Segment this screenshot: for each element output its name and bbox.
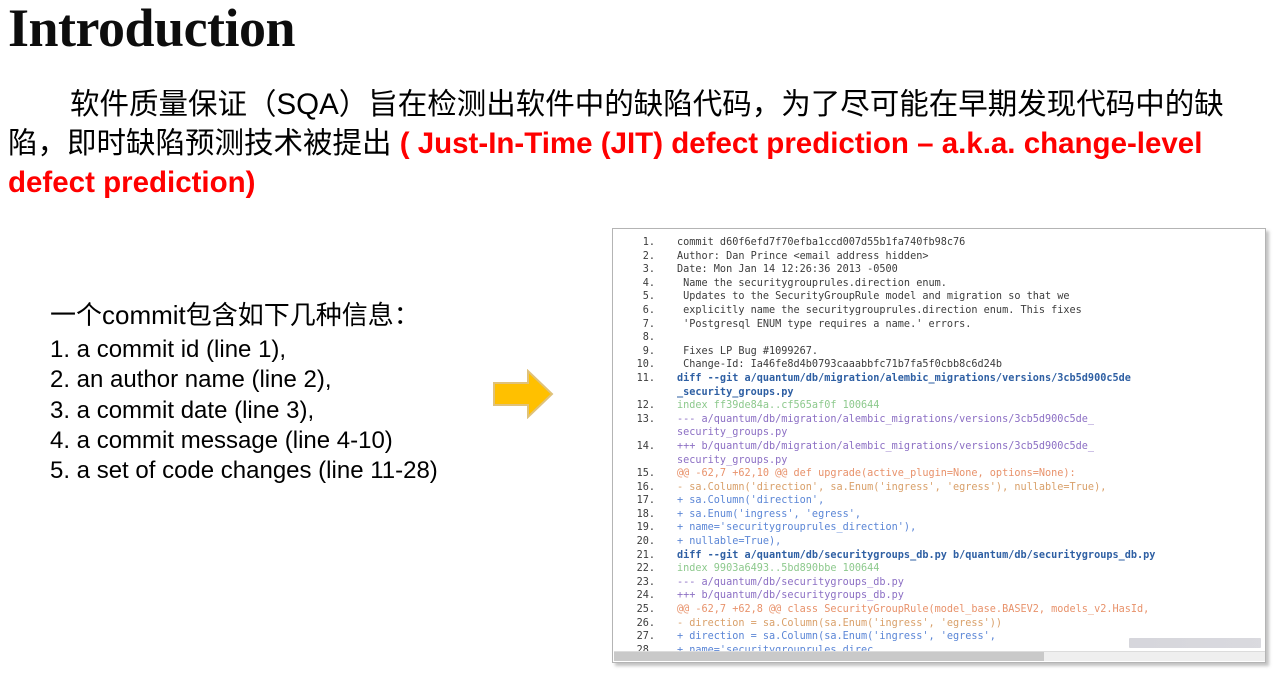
code-line: 5. Updates to the SecurityGroupRule mode… — [613, 290, 1265, 304]
code-line-text: index 9903a6493..5bd890bbe 100644 — [677, 563, 879, 574]
code-line: 23.--- a/quantum/db/securitygroups_db.py — [613, 576, 1265, 590]
code-line-number: 17. — [613, 494, 655, 508]
code-line: 25.@@ -62,7 +62,8 @@ class SecurityGroup… — [613, 603, 1265, 617]
code-line-text: diff --git a/quantum/db/migration/alembi… — [677, 373, 1131, 384]
code-line-number: 19. — [613, 521, 655, 535]
list-item: 1. a commit id (line 1), — [50, 335, 480, 365]
code-line-text: @@ -62,7 +62,8 @@ class SecurityGroupRul… — [677, 604, 1149, 615]
code-line-number: 13. — [613, 413, 655, 427]
code-line-text: --- a/quantum/db/securitygroups_db.py — [677, 577, 904, 588]
code-line: 1.commit d60f6efd7f70efba1ccd007d55b1fa7… — [613, 236, 1265, 250]
code-line-text: - direction = sa.Column(sa.Enum('ingress… — [677, 618, 1002, 629]
code-line-text: @@ -62,7 +62,10 @@ def upgrade(active_pl… — [677, 468, 1076, 479]
code-line-number: 24. — [613, 589, 655, 603]
intro-paragraph: 软件质量保证（SQA）旨在检测出软件中的缺陷代码，为了尽可能在早期发现代码中的缺… — [8, 86, 1253, 203]
code-line: 13.--- a/quantum/db/migration/alembic_mi… — [613, 413, 1265, 427]
code-line: 24.+++ b/quantum/db/securitygroups_db.py — [613, 589, 1265, 603]
code-line-text: commit d60f6efd7f70efba1ccd007d55b1fa740… — [677, 237, 965, 248]
code-line-text: index ff39de84a..cf565af0f 100644 — [677, 400, 879, 411]
code-line-text: + sa.Enum('ingress', 'egress', — [677, 509, 861, 520]
commit-info-heading: 一个commit包含如下几种信息： — [50, 300, 480, 331]
code-line: 14.+++ b/quantum/db/migration/alembic_mi… — [613, 440, 1265, 454]
code-line-text: Author: Dan Prince <email address hidden… — [677, 251, 928, 262]
code-line-number: 4. — [613, 277, 655, 291]
code-line-text: Name the securitygrouprules.direction en… — [677, 278, 947, 289]
commit-code-panel: 1.commit d60f6efd7f70efba1ccd007d55b1fa7… — [612, 228, 1266, 663]
code-line-text: 'Postgresql ENUM type requires a name.' … — [677, 319, 971, 330]
code-line-number: 22. — [613, 562, 655, 576]
code-line-number: 10. — [613, 358, 655, 372]
code-line: _security_groups.py — [613, 386, 1265, 400]
code-line: security_groups.py — [613, 426, 1265, 440]
code-line-text: security_groups.py — [677, 427, 787, 438]
code-line-number: 25. — [613, 603, 655, 617]
code-line-text: + name='securitygrouprules_direction'), — [677, 522, 916, 533]
code-line: 9. Fixes LP Bug #1099267. — [613, 345, 1265, 359]
code-line-number: 21. — [613, 549, 655, 563]
code-line-text: +++ b/quantum/db/migration/alembic_migra… — [677, 441, 1094, 452]
code-line-number: 18. — [613, 508, 655, 522]
code-line-number: 12. — [613, 399, 655, 413]
code-line-list: 1.commit d60f6efd7f70efba1ccd007d55b1fa7… — [613, 236, 1265, 657]
code-line: 7. 'Postgresql ENUM type requires a name… — [613, 318, 1265, 332]
code-line-number: 14. — [613, 440, 655, 454]
code-line-number: 20. — [613, 535, 655, 549]
code-line-text: Fixes LP Bug #1099267. — [677, 346, 818, 357]
code-line-text: diff --git a/quantum/db/securitygroups_d… — [677, 550, 1155, 561]
list-item: 3. a commit date (line 3), — [50, 396, 480, 426]
code-line: 21.diff --git a/quantum/db/securitygroup… — [613, 549, 1265, 563]
code-line: security_groups.py — [613, 454, 1265, 468]
code-line-text: + nullable=True), — [677, 536, 781, 547]
code-line-number: 7. — [613, 318, 655, 332]
code-line: 26.- direction = sa.Column(sa.Enum('ingr… — [613, 617, 1265, 631]
code-line-text: Change-Id: Ia46fe8d4b0793caaabbfc71b7fa5… — [677, 359, 1002, 370]
code-line-text: Date: Mon Jan 14 12:26:36 2013 -0500 — [677, 264, 898, 275]
code-line: 19.+ name='securitygrouprules_direction'… — [613, 521, 1265, 535]
code-line: 3.Date: Mon Jan 14 12:26:36 2013 -0500 — [613, 263, 1265, 277]
scroll-handle-overlay[interactable] — [1129, 638, 1261, 648]
scrollbar-thumb[interactable] — [614, 652, 1044, 661]
code-line-text: +++ b/quantum/db/securitygroups_db.py — [677, 590, 904, 601]
code-line-number: 1. — [613, 236, 655, 250]
code-line-number: 2. — [613, 250, 655, 264]
code-line: 18.+ sa.Enum('ingress', 'egress', — [613, 508, 1265, 522]
code-line: 10. Change-Id: Ia46fe8d4b0793caaabbfc71b… — [613, 358, 1265, 372]
code-line-text: + direction = sa.Column(sa.Enum('ingress… — [677, 631, 996, 642]
code-line-number: 3. — [613, 263, 655, 277]
code-line: 20.+ nullable=True), — [613, 535, 1265, 549]
code-line: 11.diff --git a/quantum/db/migration/ale… — [613, 372, 1265, 386]
code-line-number: 15. — [613, 467, 655, 481]
right-arrow-icon — [492, 369, 554, 419]
code-line-text: security_groups.py — [677, 455, 787, 466]
list-item: 2. an author name (line 2), — [50, 365, 480, 395]
code-line: 17.+ sa.Column('direction', — [613, 494, 1265, 508]
code-line: 22.index 9903a6493..5bd890bbe 100644 — [613, 562, 1265, 576]
list-item: 5. a set of code changes (line 11-28) — [50, 456, 480, 486]
code-line-number: 8. — [613, 331, 655, 345]
code-line-text: Updates to the SecurityGroupRule model a… — [677, 291, 1070, 302]
code-line: 4. Name the securitygrouprules.direction… — [613, 277, 1265, 291]
code-line-number: 16. — [613, 481, 655, 495]
code-line-number: 11. — [613, 372, 655, 386]
code-line: 12.index ff39de84a..cf565af0f 100644 — [613, 399, 1265, 413]
code-line: 6. explicitly name the securitygrouprule… — [613, 304, 1265, 318]
code-line: 8. — [613, 331, 1265, 345]
code-line-number: 23. — [613, 576, 655, 590]
code-line-text: _security_groups.py — [677, 387, 794, 398]
commit-info-block: 一个commit包含如下几种信息： 1. a commit id (line 1… — [50, 300, 480, 486]
code-line: 16.- sa.Column('direction', sa.Enum('ing… — [613, 481, 1265, 495]
code-line-number: 26. — [613, 617, 655, 631]
page-title: Introduction — [8, 0, 295, 58]
list-item: 4. a commit message (line 4-10) — [50, 426, 480, 456]
code-line-number: 5. — [613, 290, 655, 304]
code-line-text: + sa.Column('direction', — [677, 495, 824, 506]
code-line-text: - sa.Column('direction', sa.Enum('ingres… — [677, 482, 1106, 493]
horizontal-scrollbar[interactable] — [614, 651, 1266, 661]
code-line-text: explicitly name the securitygrouprules.d… — [677, 305, 1082, 316]
code-line-text: --- a/quantum/db/migration/alembic_migra… — [677, 414, 1094, 425]
code-line-number: 27. — [613, 630, 655, 644]
code-line-number: 9. — [613, 345, 655, 359]
code-line-number: 6. — [613, 304, 655, 318]
code-line: 15.@@ -62,7 +62,10 @@ def upgrade(active… — [613, 467, 1265, 481]
code-line: 2.Author: Dan Prince <email address hidd… — [613, 250, 1265, 264]
